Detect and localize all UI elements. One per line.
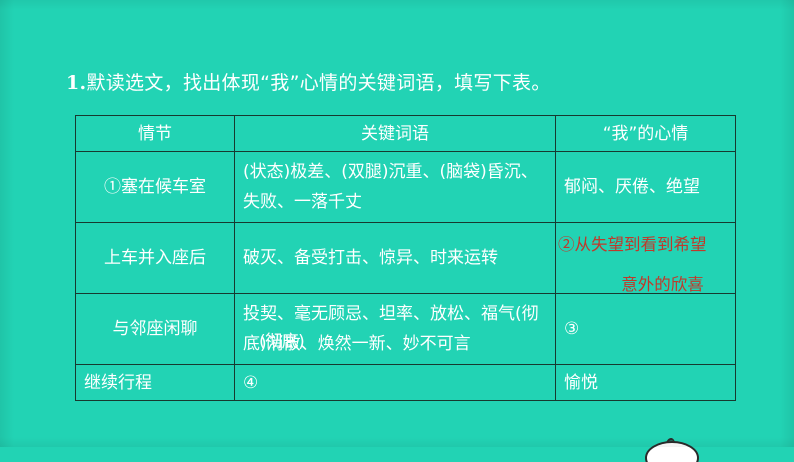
cell-keywords-1: (状态)极差、(双腿)沉重、(脑袋)昏沉、失败、一落千丈 (235, 152, 556, 223)
cell-keywords-4: ④ (235, 365, 556, 401)
cell-scene-3: 与邻座闲聊 (76, 294, 235, 365)
answer-table: 情节 关键词语 “我”的心情 ①塞在候车室 (状态)极差、(双腿)沉重、(脑袋)… (75, 115, 736, 401)
header-cell-scene: 情节 (76, 116, 235, 152)
table-row: ①塞在候车室 (状态)极差、(双腿)沉重、(脑袋)昏沉、失败、一落千丈 郁闷、厌… (76, 152, 736, 223)
mood-answer-line1: ②从失望到看到希望 (558, 235, 707, 254)
cell-keywords-3: 投契、毫无顾忌、坦率、放松、福气(彻底)消散、焕然一新、妙不可言 (彻底) (235, 294, 556, 365)
table-header-row: 情节 关键词语 “我”的心情 (76, 116, 736, 152)
cell-scene-1: ①塞在候车室 (76, 152, 235, 223)
mood-answer-line2: 意外的欣喜 (558, 265, 763, 305)
cell-mood-2: ②从失望到看到希望 意外的欣喜 (556, 223, 736, 294)
question-prompt: 1.默读选文，找出体现“我”心情的关键词语，填写下表。 (66, 70, 551, 96)
table-row: 上车并入座后 破灭、备受打击、惊异、时来运转 ②从失望到看到希望 意外的欣喜 (76, 223, 736, 294)
cell-scene-2: 上车并入座后 (76, 223, 235, 294)
cell-mood-1: 郁闷、厌倦、绝望 (556, 152, 736, 223)
slide-canvas: 1.默读选文，找出体现“我”心情的关键词语，填写下表。 情节 关键词语 “我”的… (0, 0, 794, 447)
table-row: 继续行程 ④ 愉悦 (76, 365, 736, 401)
cell-mood-4: 愉悦 (556, 365, 736, 401)
cell-keywords-2: 破灭、备受打击、惊异、时来运转 (235, 223, 556, 294)
question-number: 1. (66, 72, 86, 94)
cell-scene-4: 继续行程 (76, 365, 235, 401)
question-text: 默读选文，找出体现“我”心情的关键词语，填写下表。 (86, 72, 550, 94)
mood-answer-overflow: ②从失望到看到希望 意外的欣喜 (558, 225, 763, 305)
header-cell-mood: “我”的心情 (556, 116, 736, 152)
keywords-3-overlap-fragment: (彻底) (259, 327, 304, 357)
header-cell-keywords: 关键词语 (235, 116, 556, 152)
cartoon-character-icon (640, 432, 704, 462)
